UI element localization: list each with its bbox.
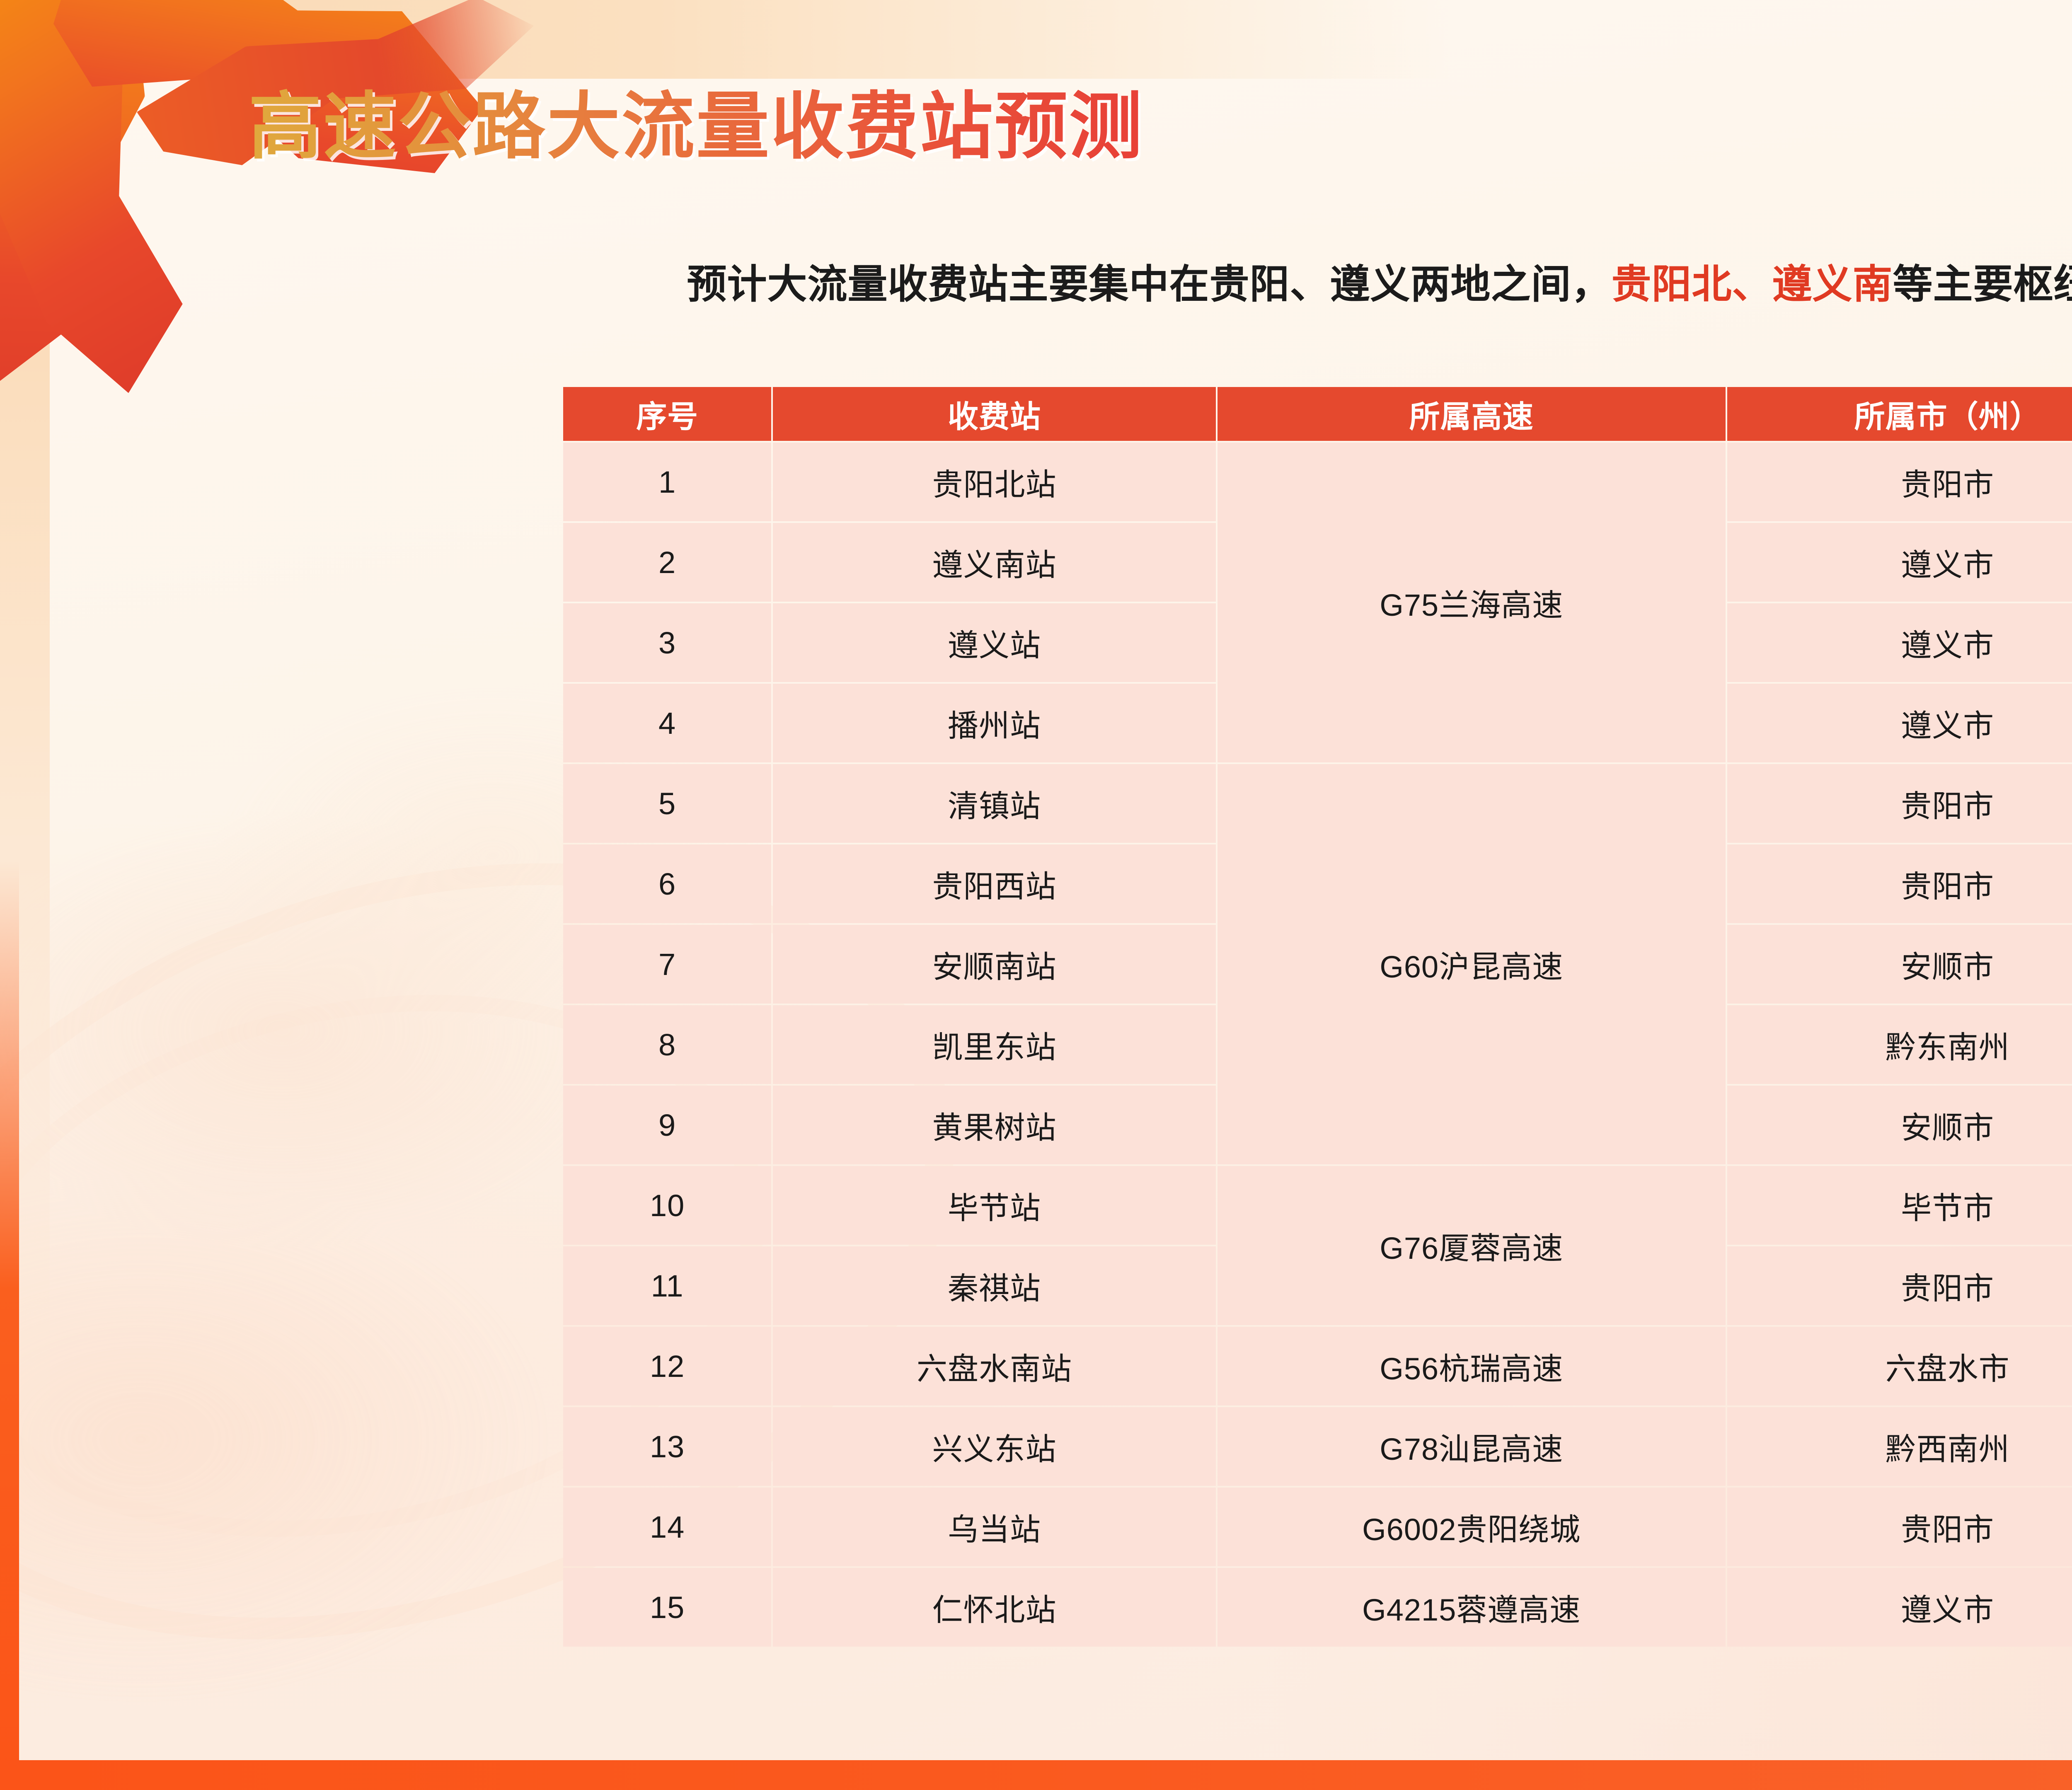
cell-index: 4 [563,684,771,762]
cell-station: 毕节站 [773,1166,1216,1245]
cell-station: 播州站 [773,684,1216,762]
poster-canvas: 高速公路大流量收费站预测 预计大流量收费站主要集中在贵阳、遵义两地之间，贵阳北、… [0,0,2072,1790]
cell-index: 5 [563,764,771,843]
cell-index: 6 [563,844,771,923]
cell-expressway: G6002贵阳绕城 [1218,1488,1726,1566]
toll-station-table-wrapper: 序号 收费站 所属高速 所属市（州） 所属区（县、市） 1贵阳北站G75兰海高速… [562,385,2072,1648]
cell-station: 凯里东站 [773,1005,1216,1084]
cell-index: 7 [563,925,771,1004]
subtitle-highlight: 贵阳北、遵义南 [1612,262,1893,307]
cell-expressway: G76厦蓉高速 [1218,1166,1726,1325]
subtitle-tail: 等主要枢纽收费站通行压力较大。 [1893,262,2072,307]
cell-city: 贵阳市 [1727,844,2072,923]
cell-city: 遵义市 [1727,603,2072,682]
cell-expressway: G56杭瑞高速 [1218,1327,1726,1405]
cell-city: 遵义市 [1727,1568,2072,1647]
cell-index: 3 [563,603,771,682]
cell-index: 9 [563,1086,771,1164]
table-row: 14乌当站G6002贵阳绕城贵阳市乌当区 [563,1488,2072,1566]
cell-station: 贵阳北站 [773,443,1216,521]
table-row: 1贵阳北站G75兰海高速贵阳市白云区 [563,443,2072,521]
cell-station: 清镇站 [773,764,1216,843]
column-header-expressway: 所属高速 [1218,387,1726,441]
cell-index: 1 [563,443,771,521]
cell-index: 13 [563,1407,771,1486]
cell-station: 兴义东站 [773,1407,1216,1486]
cell-city: 毕节市 [1727,1166,2072,1245]
cell-station: 六盘水南站 [773,1327,1216,1405]
cell-station: 贵阳西站 [773,844,1216,923]
cell-expressway: G75兰海高速 [1218,443,1726,762]
cell-station: 遵义南站 [773,523,1216,602]
cell-expressway: G60沪昆高速 [1218,764,1726,1164]
cell-station: 仁怀北站 [773,1568,1216,1647]
cell-city: 黔东南州 [1727,1005,2072,1084]
cell-city: 贵阳市 [1727,1246,2072,1325]
subtitle-text: 预计大流量收费站主要集中在贵阳、遵义两地之间，贵阳北、遵义南等主要枢纽收费站通行… [0,252,2072,310]
cell-expressway: G78汕昆高速 [1218,1407,1726,1486]
table-row: 5清镇站G60沪昆高速贵阳市清镇市 [563,764,2072,843]
page-title: 高速公路大流量收费站预测 [249,87,1144,167]
table-row: 10毕节站G76厦蓉高速毕节市七星关区 [563,1166,2072,1245]
cell-station: 秦祺站 [773,1246,1216,1325]
subtitle-lead: 预计大流量收费站主要集中在贵阳、遵义两地之间， [687,262,1612,307]
column-header-station: 收费站 [773,387,1216,441]
cell-index: 2 [563,523,771,602]
cell-city: 安顺市 [1727,1086,2072,1164]
column-header-index: 序号 [563,387,771,441]
toll-station-table: 序号 收费站 所属高速 所属市（州） 所属区（县、市） 1贵阳北站G75兰海高速… [562,385,2072,1648]
cell-city: 贵阳市 [1727,1488,2072,1566]
table-row: 15仁怀北站G4215蓉遵高速遵义市仁怀市 [563,1568,2072,1647]
table-body: 1贵阳北站G75兰海高速贵阳市白云区2遵义南站遵义市红花岗区3遵义站遵义市汇川区… [563,443,2072,1647]
cell-index: 14 [563,1488,771,1566]
cell-city: 安顺市 [1727,925,2072,1004]
cell-index: 11 [563,1246,771,1325]
table-row: 13兴义东站G78汕昆高速黔西南州兴义市 [563,1407,2072,1486]
column-header-city: 所属市（州） [1727,387,2072,441]
table-row: 12六盘水南站G56杭瑞高速六盘水市水城区 [563,1327,2072,1405]
cell-index: 15 [563,1568,771,1647]
cell-expressway: G4215蓉遵高速 [1218,1568,1726,1647]
cell-city: 遵义市 [1727,684,2072,762]
cell-city: 贵阳市 [1727,443,2072,521]
cell-city: 遵义市 [1727,523,2072,602]
cell-index: 12 [563,1327,771,1405]
cell-station: 遵义站 [773,603,1216,682]
frame-border-bottom [0,1760,2072,1790]
cell-station: 乌当站 [773,1488,1216,1566]
frame-border-left [0,0,19,1790]
cell-station: 黄果树站 [773,1086,1216,1164]
cell-city: 黔西南州 [1727,1407,2072,1486]
cell-index: 10 [563,1166,771,1245]
table-header-row: 序号 收费站 所属高速 所属市（州） 所属区（县、市） [563,387,2072,441]
cell-index: 8 [563,1005,771,1084]
cell-station: 安顺南站 [773,925,1216,1004]
cell-city: 贵阳市 [1727,764,2072,843]
cell-city: 六盘水市 [1727,1327,2072,1405]
